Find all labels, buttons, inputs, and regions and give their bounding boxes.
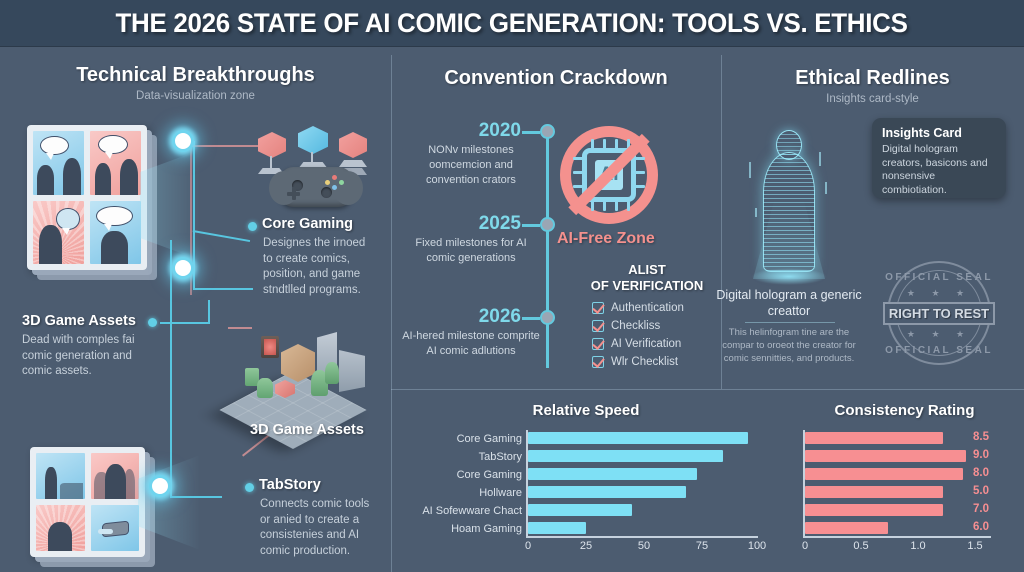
x-tick-label: 1.0 — [910, 540, 925, 552]
node-glow-mid — [172, 257, 194, 279]
timeline-stub — [522, 317, 540, 320]
checklist-item[interactable]: Wlr Checklist — [592, 356, 678, 368]
right-panel-subtitle: Insights card-style — [721, 93, 1024, 105]
bar-consistency — [805, 486, 943, 498]
comic-page-bottom — [30, 447, 145, 557]
chart-y-axis — [803, 430, 805, 536]
x-tick-label: 0.5 — [853, 540, 868, 552]
bar-consistency — [805, 522, 888, 534]
hologram-divider — [745, 322, 835, 323]
bullet-dot-tabstory — [245, 483, 254, 492]
item-title-core-gaming: Core Gaming — [262, 216, 353, 232]
seal-arc-top: OFFICIAL SEAL — [884, 272, 994, 283]
checklist-item[interactable]: AI Verification — [592, 338, 681, 350]
checklist-heading: ALIST OF VERIFICATION — [572, 262, 722, 295]
left-panel-title: Technical Breakthroughs — [0, 64, 391, 87]
bar-relative-speed — [528, 504, 632, 516]
checklist-item[interactable]: Authentication — [592, 302, 684, 314]
comic-cell — [35, 452, 86, 500]
bar-consistency — [805, 504, 943, 516]
bar-relative-speed — [528, 486, 686, 498]
timeline-body-2020: NONv milestones oomcemcion and conventio… — [402, 143, 540, 188]
bar-label: Hoam Gaming — [396, 523, 522, 535]
chart-relative-speed: Relative Speed Core Gaming TabStory Core… — [391, 392, 781, 572]
chart-y-axis — [526, 430, 528, 536]
chart-x-axis — [526, 536, 758, 538]
bar-value-label: 9.0 — [973, 449, 989, 461]
bar-consistency — [805, 450, 966, 462]
bullet-dot-3d-assets — [148, 318, 157, 327]
iso-tree — [257, 378, 273, 398]
comic-cell — [35, 504, 86, 552]
timeline-body-2026: AI-hered milestone comprite AI comic adl… — [402, 329, 540, 359]
check-icon[interactable] — [592, 320, 604, 332]
timeline-knob-2025 — [540, 217, 555, 232]
x-tick-label: 100 — [748, 540, 766, 552]
checklist-heading-line1: ALIST — [628, 262, 666, 277]
connector-line-pink — [190, 145, 265, 147]
voxel-cube-blue — [298, 126, 328, 154]
bar-relative-speed — [528, 468, 697, 480]
cube-stand — [270, 156, 272, 170]
bar-value-label: 6.0 — [973, 521, 989, 533]
checklist-item-label: Authentication — [611, 302, 684, 314]
page-title: THE 2026 STATE OF AI COMIC GENERATION: T… — [116, 8, 908, 39]
timeline-year-2020: 2020 — [425, 120, 521, 142]
bar-relative-speed — [528, 450, 723, 462]
item-body-tabstory: Connects comic tools or anied to create … — [260, 497, 376, 559]
timeline-knob-2026 — [540, 310, 555, 325]
checklist-item[interactable]: Checkliss — [592, 320, 660, 332]
iso-tree — [325, 362, 339, 384]
bar-label: Hollware — [396, 487, 522, 499]
chart-title-consistency-rating: Consistency Rating — [785, 402, 1024, 419]
item-body-core-gaming: Designes the irnoed to create comics, po… — [263, 236, 375, 298]
voxel-cube-red-2 — [339, 132, 367, 158]
item-title-3d-assets: 3D Game Assets — [22, 313, 136, 329]
x-tick-label: 25 — [580, 540, 592, 552]
checklist-item-label: AI Verification — [611, 338, 681, 350]
check-icon[interactable] — [592, 302, 604, 314]
bullet-dot-core-gaming — [248, 222, 257, 231]
comic-cell — [90, 452, 141, 500]
divider-horizontal — [391, 389, 1024, 390]
bar-consistency — [805, 432, 943, 444]
gamepad-icon — [277, 167, 355, 207]
bar-relative-speed — [528, 432, 748, 444]
x-tick-label: 1.5 — [967, 540, 982, 552]
timeline-knob-2020 — [540, 124, 555, 139]
bar-consistency — [805, 468, 963, 480]
checklist-item-label: Checkliss — [611, 320, 660, 332]
checklist-heading-line2: OF VERIFICATION — [591, 278, 703, 293]
right-panel-title: Ethical Redlines — [721, 67, 1024, 90]
hologram-figure — [745, 122, 833, 287]
x-tick-label: 0 — [802, 540, 808, 552]
comic-cell — [89, 130, 142, 196]
chart-consistency-rating: Consistency Rating 8.5 9.0 8.0 5.0 7.0 6… — [785, 392, 1024, 572]
item-title-3d-assets-2: 3D Game Assets — [250, 422, 364, 438]
voxel-cube-red-1 — [258, 132, 286, 158]
timeline-year-2026: 2026 — [425, 306, 521, 328]
ai-free-zone-icon: AI — [560, 126, 658, 224]
seal-arc-bottom: OFFICIAL SEAL — [884, 345, 994, 356]
item-body-3d-assets: Dead with comples fai comic generation a… — [22, 333, 150, 380]
timeline-body-2025: Fixed milestones for AI comic generation… — [402, 236, 540, 266]
check-icon[interactable] — [592, 338, 604, 350]
comic-cell — [32, 130, 85, 196]
comic-page-top — [27, 125, 147, 270]
connector-line — [193, 288, 253, 290]
connector-line — [170, 496, 222, 498]
comic-cell — [89, 200, 142, 266]
ai-free-zone-caption: AI-Free Zone — [557, 230, 655, 248]
checklist-item-label: Wlr Checklist — [611, 356, 678, 368]
bar-relative-speed — [528, 522, 586, 534]
timeline-year-2025: 2025 — [425, 213, 521, 235]
chart-x-axis — [803, 536, 991, 538]
chart-title-relative-speed: Relative Speed — [391, 402, 781, 419]
x-tick-label: 50 — [638, 540, 650, 552]
connector-line — [208, 300, 210, 324]
hologram-note: This helinfogram tine are the compar to … — [713, 327, 865, 365]
connector-line — [170, 240, 172, 498]
bar-value-label: 8.5 — [973, 431, 989, 443]
timeline-rail — [546, 130, 549, 368]
isometric-scene — [233, 322, 383, 420]
item-title-tabstory: TabStory — [259, 477, 321, 493]
infographic-canvas: THE 2026 STATE OF AI COMIC GENERATION: T… — [0, 0, 1024, 572]
insights-card-title: Insights Card — [882, 126, 996, 140]
bar-label: AI Sofewware Chact — [391, 505, 522, 517]
x-tick-label: 75 — [696, 540, 708, 552]
bar-value-label: 5.0 — [973, 485, 989, 497]
check-icon[interactable] — [592, 356, 604, 368]
bar-label: Core Gaming — [396, 433, 522, 445]
node-glow-top — [172, 130, 194, 152]
bar-value-label: 7.0 — [973, 503, 989, 515]
seal-stars-bottom: ★ ★ ★ — [884, 329, 994, 340]
timeline-stub — [522, 131, 540, 134]
comic-cell — [90, 504, 141, 552]
seal-stars-top: ★ ★ ★ — [884, 288, 994, 299]
iso-poster — [261, 336, 279, 358]
bar-label: TabStory — [396, 451, 522, 463]
middle-panel-title: Convention Crackdown — [391, 67, 721, 90]
iso-wall — [339, 350, 365, 392]
x-tick-label: 0 — [525, 540, 531, 552]
insights-card: Insights Card Digital hologram creators,… — [872, 118, 1006, 198]
insights-card-body: Digital hologram creators, basicons and … — [882, 143, 996, 198]
connector-line — [160, 322, 210, 324]
bar-label: Core Gaming — [396, 469, 522, 481]
header-bar: THE 2026 STATE OF AI COMIC GENERATION: T… — [0, 0, 1024, 47]
timeline-stub — [522, 224, 540, 227]
official-seal-badge: OFFICIAL SEAL ★ ★ ★ RIGHT TO REST ★ ★ ★ … — [884, 258, 994, 368]
bar-value-label: 8.0 — [973, 467, 989, 479]
left-panel-subtitle: Data-visualization zone — [0, 90, 391, 102]
seal-banner-text: RIGHT TO REST — [883, 302, 995, 325]
hologram-caption: Digital hologram a generic creattor — [714, 287, 864, 320]
node-glow-bottom — [149, 475, 171, 497]
comic-cell — [32, 200, 85, 266]
